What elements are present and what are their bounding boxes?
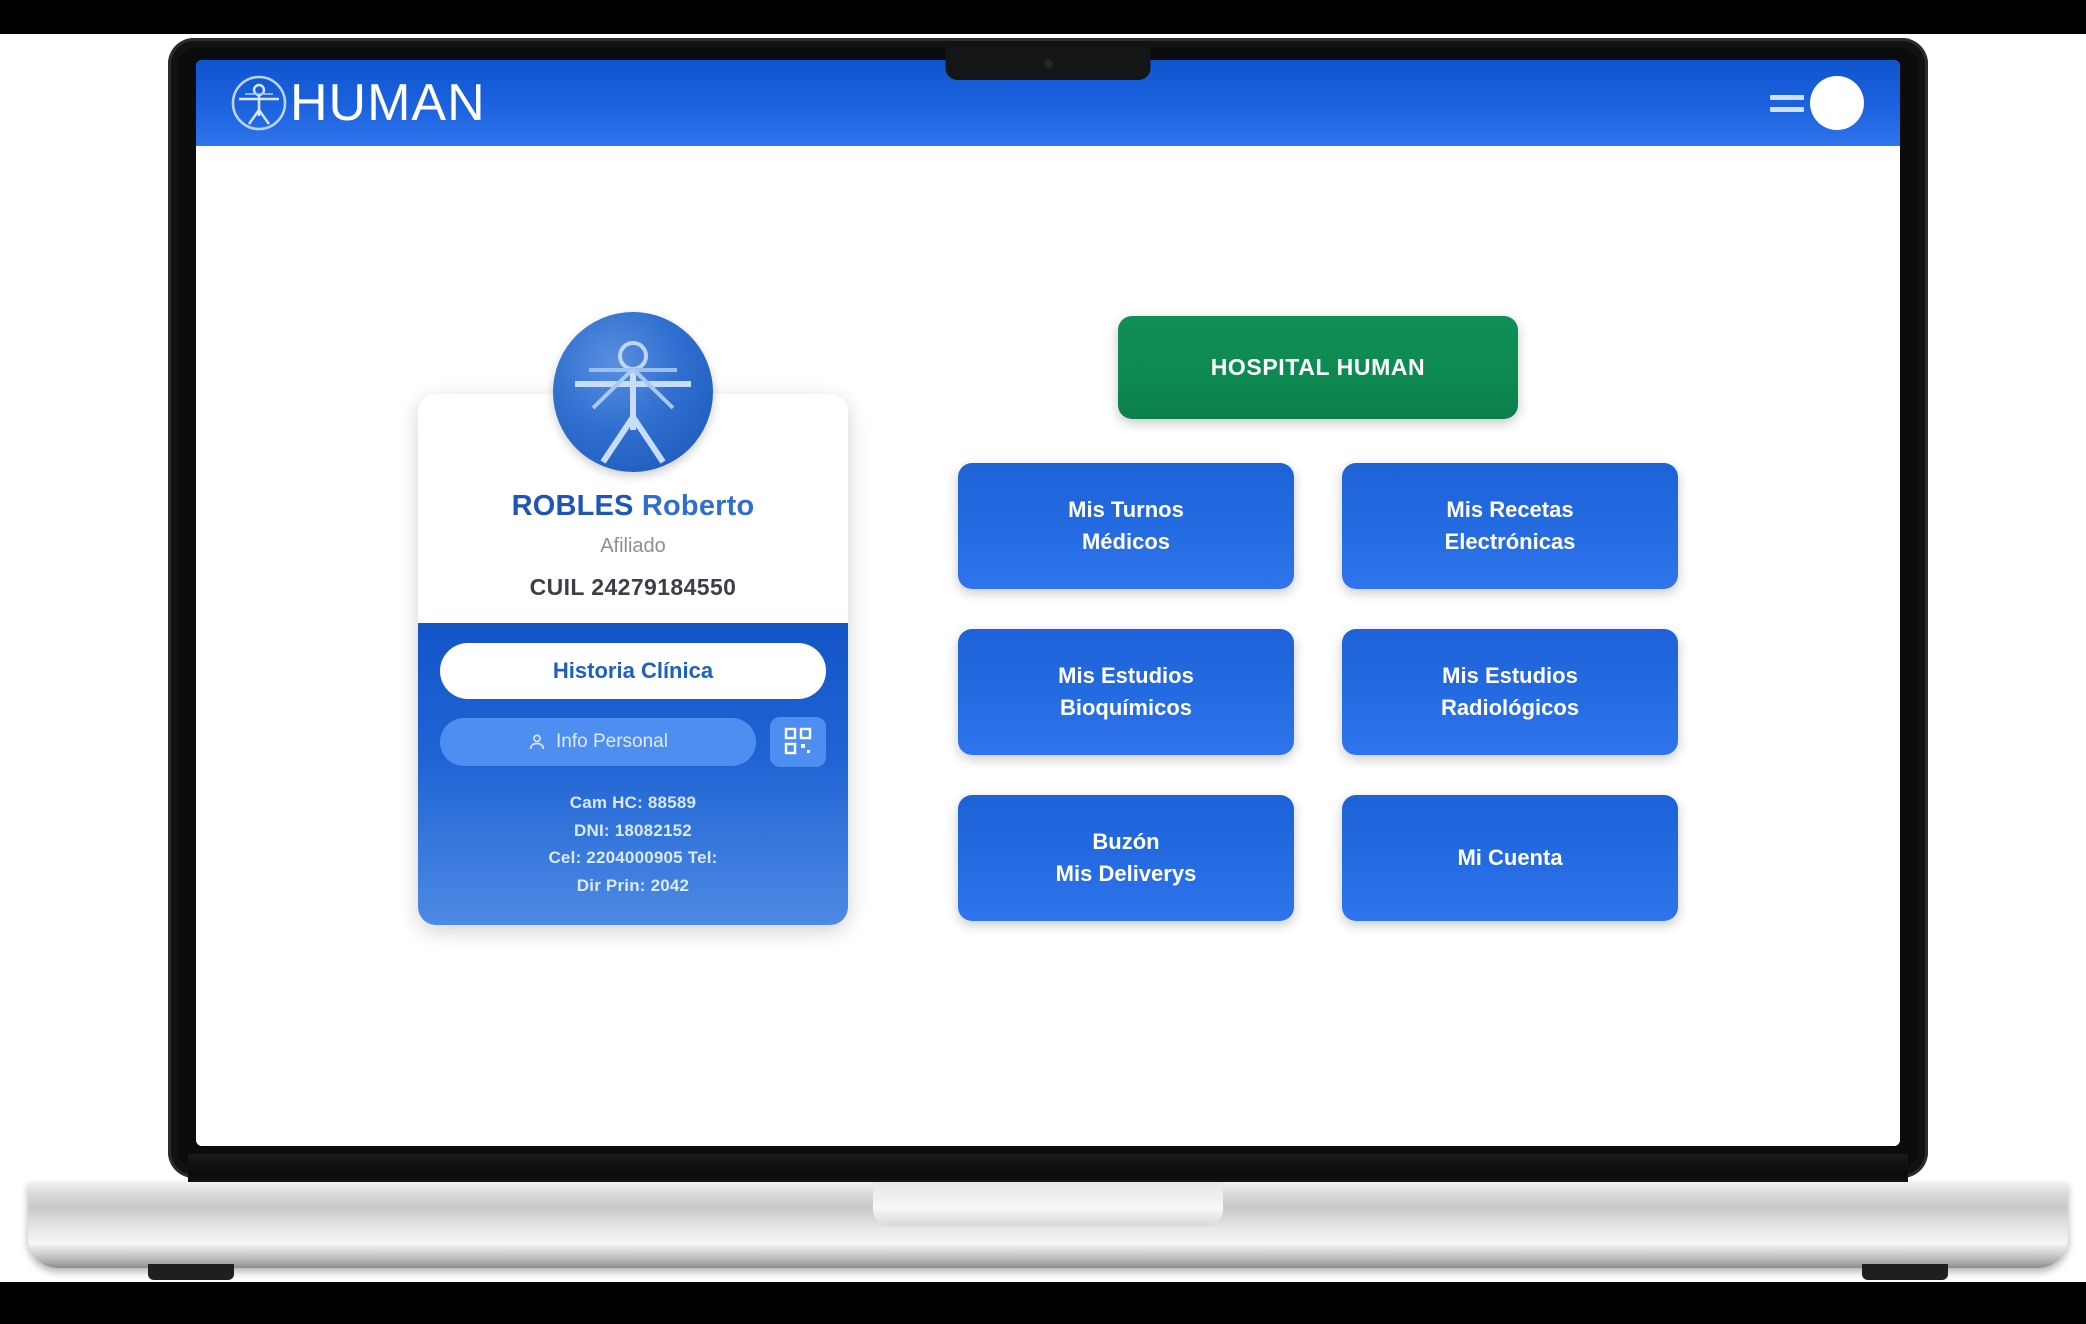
laptop-mockup: HUMAN bbox=[168, 38, 1928, 1178]
tile-line-2: Radiológicos bbox=[1441, 692, 1579, 724]
tile-mi-cuenta[interactable]: Mi Cuenta bbox=[1342, 795, 1678, 921]
tile-line-1: Mis Recetas bbox=[1446, 494, 1573, 526]
page-root: HUMAN bbox=[0, 0, 2086, 1324]
info-personal-button[interactable]: Info Personal bbox=[440, 718, 756, 766]
tile-line-1: Mis Estudios bbox=[1058, 660, 1194, 692]
patient-given-name: Roberto bbox=[642, 490, 755, 522]
user-avatar-icon[interactable] bbox=[1810, 76, 1864, 130]
patient-surname: ROBLES bbox=[512, 490, 634, 522]
tile-mis-estudios-bioquimicos[interactable]: Mis Estudios Bioquímicos bbox=[958, 629, 1294, 755]
patient-card: ROBLES Roberto Afiliado CUIL 24279184550… bbox=[418, 394, 848, 925]
tile-line-2: Mis Deliverys bbox=[1056, 858, 1197, 890]
patient-cuil: CUIL 24279184550 bbox=[436, 574, 830, 601]
patient-card-action-row: Info Personal bbox=[440, 717, 826, 767]
laptop-camera-notch bbox=[946, 47, 1151, 80]
qr-code-button[interactable] bbox=[770, 717, 826, 767]
tile-line-1: Buzón bbox=[1092, 826, 1159, 858]
tile-mis-recetas-electronicas[interactable]: Mis Recetas Electrónicas bbox=[1342, 463, 1678, 589]
patient-detail-line: DNI: 18082152 bbox=[440, 817, 826, 845]
brand-title: HUMAN bbox=[290, 77, 486, 129]
patient-cuil-label: CUIL bbox=[530, 574, 585, 600]
bottom-black-band bbox=[0, 1282, 2086, 1324]
tile-line-2: Médicos bbox=[1082, 526, 1170, 558]
camera-lens-icon bbox=[1044, 59, 1053, 68]
hospital-human-button[interactable]: HOSPITAL HUMAN bbox=[1118, 316, 1518, 419]
tile-mis-estudios-radiologicos[interactable]: Mis Estudios Radiológicos bbox=[1342, 629, 1678, 755]
patient-details: Cam HC: 88589 DNI: 18082152 Cel: 2204000… bbox=[440, 789, 826, 899]
info-personal-label: Info Personal bbox=[556, 731, 668, 753]
tile-line-1: Mis Turnos bbox=[1068, 494, 1184, 526]
laptop-base-lip bbox=[873, 1182, 1223, 1226]
header-right-group bbox=[1770, 76, 1864, 130]
patient-cuil-value: 24279184550 bbox=[591, 574, 736, 600]
tile-line-2: Electrónicas bbox=[1445, 526, 1576, 558]
brand-logo[interactable]: HUMAN bbox=[228, 72, 486, 134]
hamburger-menu-icon[interactable] bbox=[1770, 95, 1804, 112]
patient-card-actions: Historia Clínica Info P bbox=[418, 623, 848, 925]
patient-name: ROBLES Roberto bbox=[436, 490, 830, 523]
tile-buzon-mis-deliverys[interactable]: Buzón Mis Deliverys bbox=[958, 795, 1294, 921]
actions-column: HOSPITAL HUMAN Mis Turnos Médicos Mis Re… bbox=[958, 316, 1678, 1146]
vitruvian-man-icon bbox=[228, 72, 290, 134]
patient-detail-line: Dir Prin: 2042 bbox=[440, 872, 826, 900]
laptop-foot-right bbox=[1862, 1264, 1948, 1280]
action-tile-grid: Mis Turnos Médicos Mis Recetas Electróni… bbox=[958, 463, 1678, 921]
tile-line-1: Mis Estudios bbox=[1442, 660, 1578, 692]
tile-line-1: Mi Cuenta bbox=[1457, 842, 1562, 874]
patient-subtitle: Afiliado bbox=[436, 535, 830, 558]
person-icon bbox=[528, 733, 546, 751]
browser-viewport: HUMAN bbox=[196, 60, 1900, 1146]
qr-code-icon bbox=[783, 726, 813, 759]
top-black-band bbox=[0, 0, 2086, 34]
patient-detail-line: Cam HC: 88589 bbox=[440, 789, 826, 817]
tile-mis-turnos-medicos[interactable]: Mis Turnos Médicos bbox=[958, 463, 1294, 589]
app-main: ROBLES Roberto Afiliado CUIL 24279184550… bbox=[196, 146, 1900, 1146]
historia-clinica-button[interactable]: Historia Clínica bbox=[440, 643, 826, 699]
patient-detail-line: Cel: 2204000905 Tel: bbox=[440, 844, 826, 872]
patient-card-column: ROBLES Roberto Afiliado CUIL 24279184550… bbox=[418, 316, 848, 1146]
laptop-foot-left bbox=[148, 1264, 234, 1280]
tile-line-2: Bioquímicos bbox=[1060, 692, 1192, 724]
vitruvian-man-avatar-icon bbox=[553, 312, 713, 472]
